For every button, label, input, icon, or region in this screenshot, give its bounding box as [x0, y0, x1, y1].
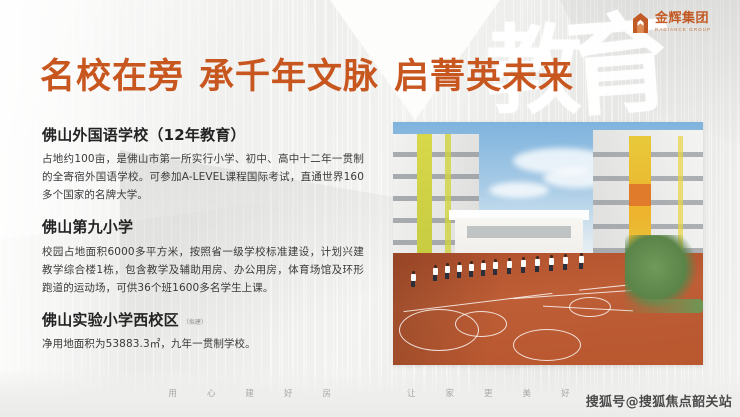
tagline-separator	[361, 387, 379, 399]
school-block-3: 佛山实验小学西校区 （拟建） 净用地面积为53883.3㎡，九年一贯制学校。	[42, 310, 364, 353]
school-title-3: 佛山实验小学西校区 （拟建）	[42, 310, 364, 330]
photo-student	[493, 259, 498, 275]
school-title-2: 佛山第九小学	[42, 217, 364, 237]
photo-cloud	[489, 182, 549, 198]
photo-student	[549, 255, 554, 271]
photo-student	[481, 260, 486, 276]
photo-student	[457, 262, 462, 278]
brand-logo[interactable]: 金辉集团 RADIANCE GROUP	[631, 12, 711, 34]
photo-accent-block-right	[629, 184, 651, 206]
headline-part-1: 名校在旁	[40, 57, 184, 97]
tagline-char: 美	[523, 387, 534, 399]
school-block-1: 佛山外国语学校（12年教育） 占地约100亩，是佛山市第一所实行小学、初中、高中…	[42, 125, 364, 204]
tagline-char: 好	[284, 387, 295, 399]
photo-student	[433, 265, 438, 281]
radiance-group-mark-icon	[631, 12, 650, 34]
photo-student	[445, 263, 450, 279]
school-title-1: 佛山外国语学校（12年教育）	[42, 125, 364, 145]
photo-student	[579, 253, 584, 269]
school-title-note-3: （拟建）	[183, 319, 207, 327]
tagline-char: 建	[245, 387, 256, 399]
tagline-char: 更	[484, 387, 495, 399]
school-body-3: 净用地面积为53883.3㎡，九年一贯制学校。	[42, 335, 364, 353]
photo-student	[507, 258, 512, 274]
headline-part-2: 承千年文脉	[199, 57, 379, 97]
campus-photo	[393, 122, 703, 365]
photo-student	[521, 257, 526, 273]
school-body-2: 校园占地面积6000多平方米，按照省一级学校标准建设，计划兴建教学综合楼1栋，包…	[42, 243, 364, 297]
logo-chinese-name: 金辉集团	[655, 12, 711, 26]
school-info-list: 佛山外国语学校（12年教育） 占地约100亩，是佛山市第一所实行小学、初中、高中…	[42, 125, 364, 353]
tagline-char: 让	[407, 387, 418, 399]
source-watermark: 搜狐号@搜狐焦点韶关站	[586, 391, 732, 410]
photo-ground-marking	[455, 311, 507, 337]
slide-canvas: 教 育 金辉集团 RADIANCE GROUP 名校在旁承千年文脉启菁英未来 佛…	[0, 0, 740, 417]
photo-hedge	[621, 299, 703, 313]
logo-english-name: RADIANCE GROUP	[655, 27, 711, 34]
tagline-char: 用	[168, 387, 179, 399]
page-title: 名校在旁承千年文脉启菁英未来	[40, 57, 574, 98]
tagline-char: 家	[446, 387, 457, 399]
photo-student	[535, 256, 540, 272]
photo-student	[469, 261, 474, 277]
tagline-char: 好	[561, 387, 572, 399]
photo-tree	[625, 235, 699, 307]
logo-text-group: 金辉集团 RADIANCE GROUP	[655, 12, 711, 33]
tagline-char: 房	[322, 387, 333, 399]
headline-part-3: 启菁英未来	[394, 57, 574, 97]
watermark-text: 搜狐号@搜狐焦点韶关站	[586, 391, 732, 410]
photo-student	[563, 254, 568, 270]
school-body-1: 占地约100亩，是佛山市第一所实行小学、初中、高中十二年一贯制的全寄宿外国语学校…	[42, 150, 364, 204]
school-block-2: 佛山第九小学 校园占地面积6000多平方米，按照省一级学校标准建设，计划兴建教学…	[42, 217, 364, 296]
school-title-text-3: 佛山实验小学西校区	[42, 310, 179, 330]
photo-ground-marking	[513, 329, 581, 361]
tagline-char: 心	[207, 387, 218, 399]
school-title-text-1: 佛山外国语学校（12年教育）	[42, 125, 246, 145]
school-title-text-2: 佛山第九小学	[42, 217, 133, 237]
photo-student	[411, 271, 416, 287]
